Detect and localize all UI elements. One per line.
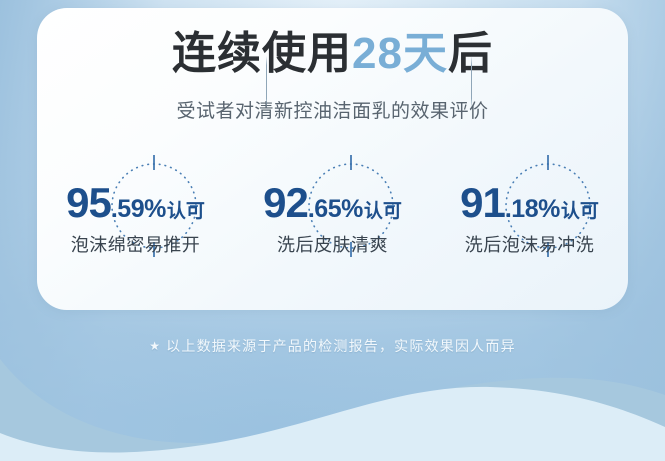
bottom-wave-decoration	[0, 351, 665, 461]
stat-decimal: .18%	[505, 195, 560, 223]
stat-integer: 91	[460, 179, 505, 226]
stat-decimal: .65%	[308, 195, 363, 223]
stats-row: 95.59%认可 泡沫绵密易推开 92.65%认可 洗后皮肤清爽	[37, 148, 628, 278]
stat-divider	[266, 56, 267, 108]
stat-content: 95.59%认可 泡沫绵密易推开	[37, 182, 234, 257]
stat-content: 92.65%认可 洗后皮肤清爽	[234, 182, 431, 257]
stat-label: 泡沫绵密易推开	[37, 231, 234, 257]
stat-block: 91.18%认可 洗后泡沫易冲洗	[431, 148, 628, 278]
stat-approval-text: 认可	[167, 201, 205, 222]
stat-content: 91.18%认可 洗后泡沫易冲洗	[431, 182, 628, 257]
star-icon: ★	[149, 339, 161, 353]
stat-decimal: .59%	[111, 195, 166, 223]
stat-integer: 92	[263, 179, 308, 226]
stat-value-line: 91.18%认可	[431, 182, 628, 224]
title-highlight: 28天	[352, 29, 448, 78]
stat-approval-text: 认可	[364, 201, 402, 222]
stat-divider	[471, 56, 472, 108]
stat-approval-text: 认可	[561, 201, 599, 222]
content-card: 连续使用28天后 受试者对清新控油洁面乳的效果评价 95.59%认可 泡沫绵密易…	[37, 8, 628, 310]
page-title: 连续使用28天后	[37, 32, 628, 76]
stat-value-line: 95.59%认可	[37, 182, 234, 224]
page-subtitle: 受试者对清新控油洁面乳的效果评价	[37, 96, 628, 123]
stat-label: 洗后泡沫易冲洗	[431, 231, 628, 257]
stat-value-line: 92.65%认可	[234, 182, 431, 224]
title-prefix: 连续使用	[172, 29, 352, 78]
stat-integer: 95	[66, 179, 111, 226]
stat-label: 洗后皮肤清爽	[234, 231, 431, 257]
stat-block: 95.59%认可 泡沫绵密易推开	[37, 148, 234, 278]
footnote-text: 以上数据来源于产品的检测报告，实际效果因人而异	[166, 338, 516, 354]
stat-block: 92.65%认可 洗后皮肤清爽	[234, 148, 431, 278]
footnote: ★以上数据来源于产品的检测报告，实际效果因人而异	[0, 336, 665, 356]
